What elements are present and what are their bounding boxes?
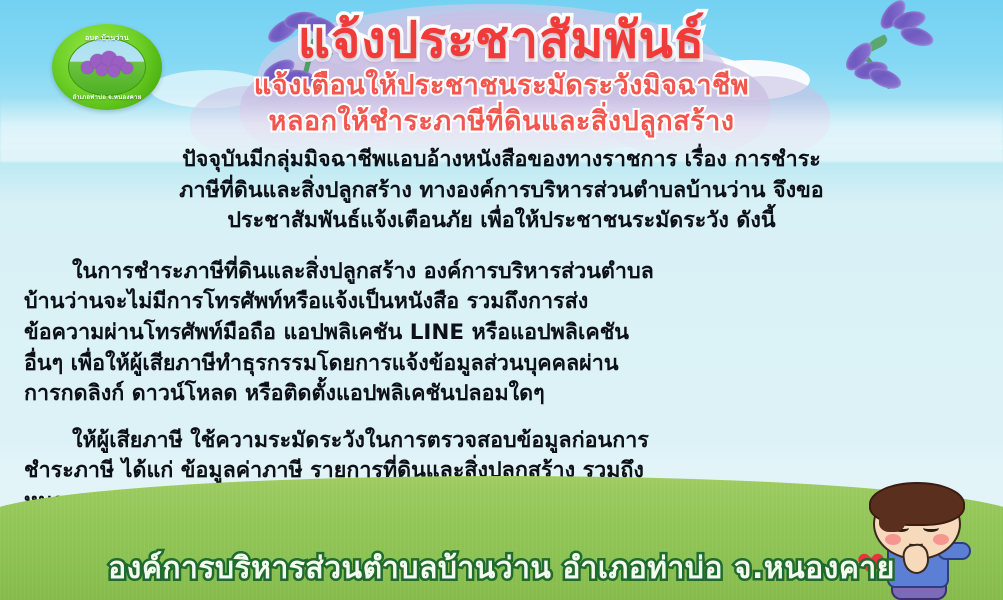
boy-hair [869, 482, 965, 526]
paragraph-2-line-5: การกดลิงก์ ดาวน์โหลด หรือติดตั้งแอปพลิเค… [24, 380, 979, 409]
footer-organization-name: องค์การบริหารส่วนตำบลบ้านว่าน อำเภอท่าบ่… [0, 545, 1003, 592]
poster-subtitle-line-1: แจ้งเตือนให้ประชาชนระมัดระวังมิจฉาชีพ [0, 69, 1003, 104]
paragraph-2-line-4: อื่นๆ เพื่อให้ผู้เสียภาษีทำธุรกรรมโดยการ… [24, 350, 979, 379]
paragraph-2-line-3: ข้อความผ่านโทรศัพท์มือถือ แอปพลิเคชัน LI… [24, 319, 979, 348]
announcement-poster: อบต.บ้านว่าน อำเภอท่าบ่อ จ.หนองคาย แจ้งป… [0, 0, 1003, 600]
paragraph-3-line-1: ให้ผู้เสียภาษี ใช้ความระมัดระวังในการตรว… [24, 427, 979, 456]
paragraph-1-line-2: ภาษีที่ดินและสิ่งปลูกสร้าง ทางองค์การบริ… [24, 177, 979, 206]
title-block: แจ้งประชาสัมพันธ์ แจ้งเตือนให้ประชาชนระม… [0, 14, 1003, 140]
paragraph-2-line-2: บ้านว่านจะไม่มีการโทรศัพท์หรือแจ้งเป็นหน… [24, 288, 979, 317]
paragraph-2-line-1: ในการชำระภาษีที่ดินและสิ่งปลูกสร้าง องค์… [24, 258, 979, 287]
poster-title: แจ้งประชาสัมพันธ์ [0, 14, 1003, 67]
poster-subtitle-line-2: หลอกให้ชำระภาษีที่ดินและสิ่งปลูกสร้าง [0, 105, 1003, 140]
paragraph-2: ในการชำระภาษีที่ดินและสิ่งปลูกสร้าง องค์… [24, 258, 979, 409]
paragraph-1: ปัจจุบันมีกลุ่มมิจฉาชีพแอบอ้างหนังสือของ… [24, 146, 979, 236]
paragraph-1-line-1: ปัจจุบันมีกลุ่มมิจฉาชีพแอบอ้างหนังสือของ… [24, 146, 979, 175]
boy-cheek [933, 534, 949, 545]
boy-cheek [885, 534, 901, 545]
paragraph-1-line-3: ประชาสัมพันธ์แจ้งเตือนภัย เพื่อให้ประชาช… [24, 207, 979, 236]
